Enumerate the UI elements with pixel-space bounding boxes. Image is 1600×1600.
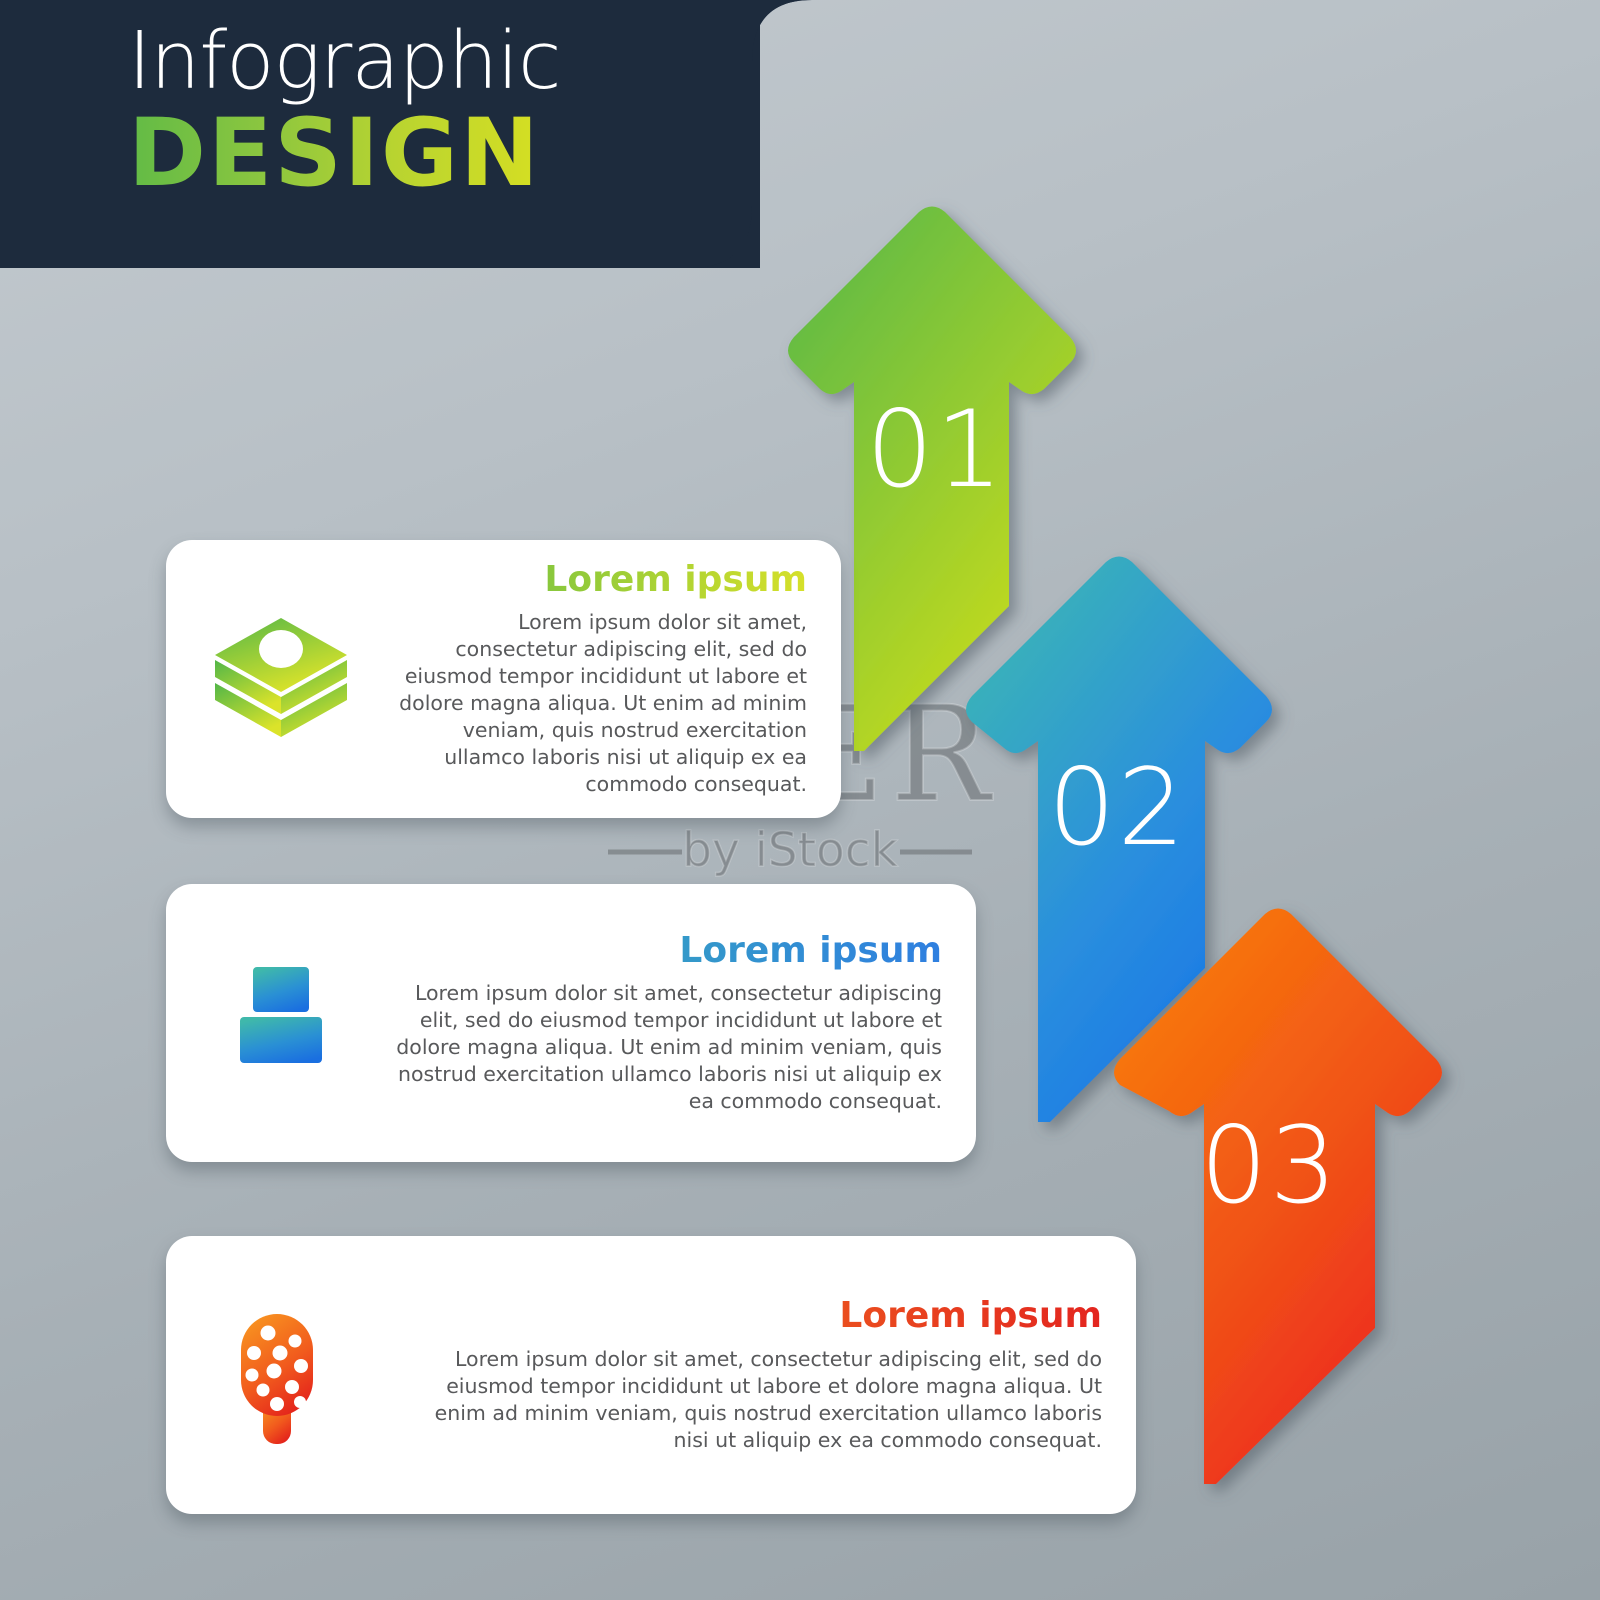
step-card-02[interactable]: Lorem ipsum Lorem ipsum dolor sit amet, … — [166, 884, 976, 1162]
step-number-02: 02 — [1048, 746, 1187, 869]
step-card-03[interactable]: Lorem ipsum Lorem ipsum dolor sit amet, … — [166, 1236, 1136, 1514]
step-icon-03 — [166, 1300, 396, 1450]
step-body-03: Lorem ipsum dolor sit amet, consectetur … — [396, 1346, 1102, 1454]
header-corner-round — [752, 0, 812, 62]
step-title-01: Lorem ipsum — [396, 560, 807, 600]
step-icon-01 — [166, 604, 396, 754]
step-body-01: Lorem ipsum dolor sit amet, consectetur … — [396, 609, 807, 798]
step-card-01[interactable]: Lorem ipsum Lorem ipsum dolor sit amet, … — [166, 540, 841, 818]
step-icon-02 — [166, 948, 396, 1098]
layer-cake-slice-icon — [206, 604, 356, 754]
tiered-wedding-cake-icon — [206, 948, 356, 1098]
step-title-02: Lorem ipsum — [396, 931, 942, 971]
step-body-02: Lorem ipsum dolor sit amet, consectetur … — [396, 980, 942, 1115]
header-banner: Infographic DESIGN — [0, 0, 880, 300]
header-title-line1: Infographic — [128, 22, 560, 101]
watermark-byline: by iStock — [682, 823, 899, 878]
header-title-line2: DESIGN — [128, 107, 560, 201]
header-text-group: Infographic DESIGN — [128, 22, 560, 201]
ice-cream-bar-icon — [206, 1300, 356, 1450]
infographic-canvas: 01 02 — [0, 0, 1600, 1600]
step-number-03: 03 — [1200, 1104, 1339, 1227]
step-arrow-03[interactable]: 03 — [1108, 908, 1448, 1484]
step-number-01: 01 — [866, 388, 1005, 511]
step-title-03: Lorem ipsum — [396, 1296, 1102, 1336]
